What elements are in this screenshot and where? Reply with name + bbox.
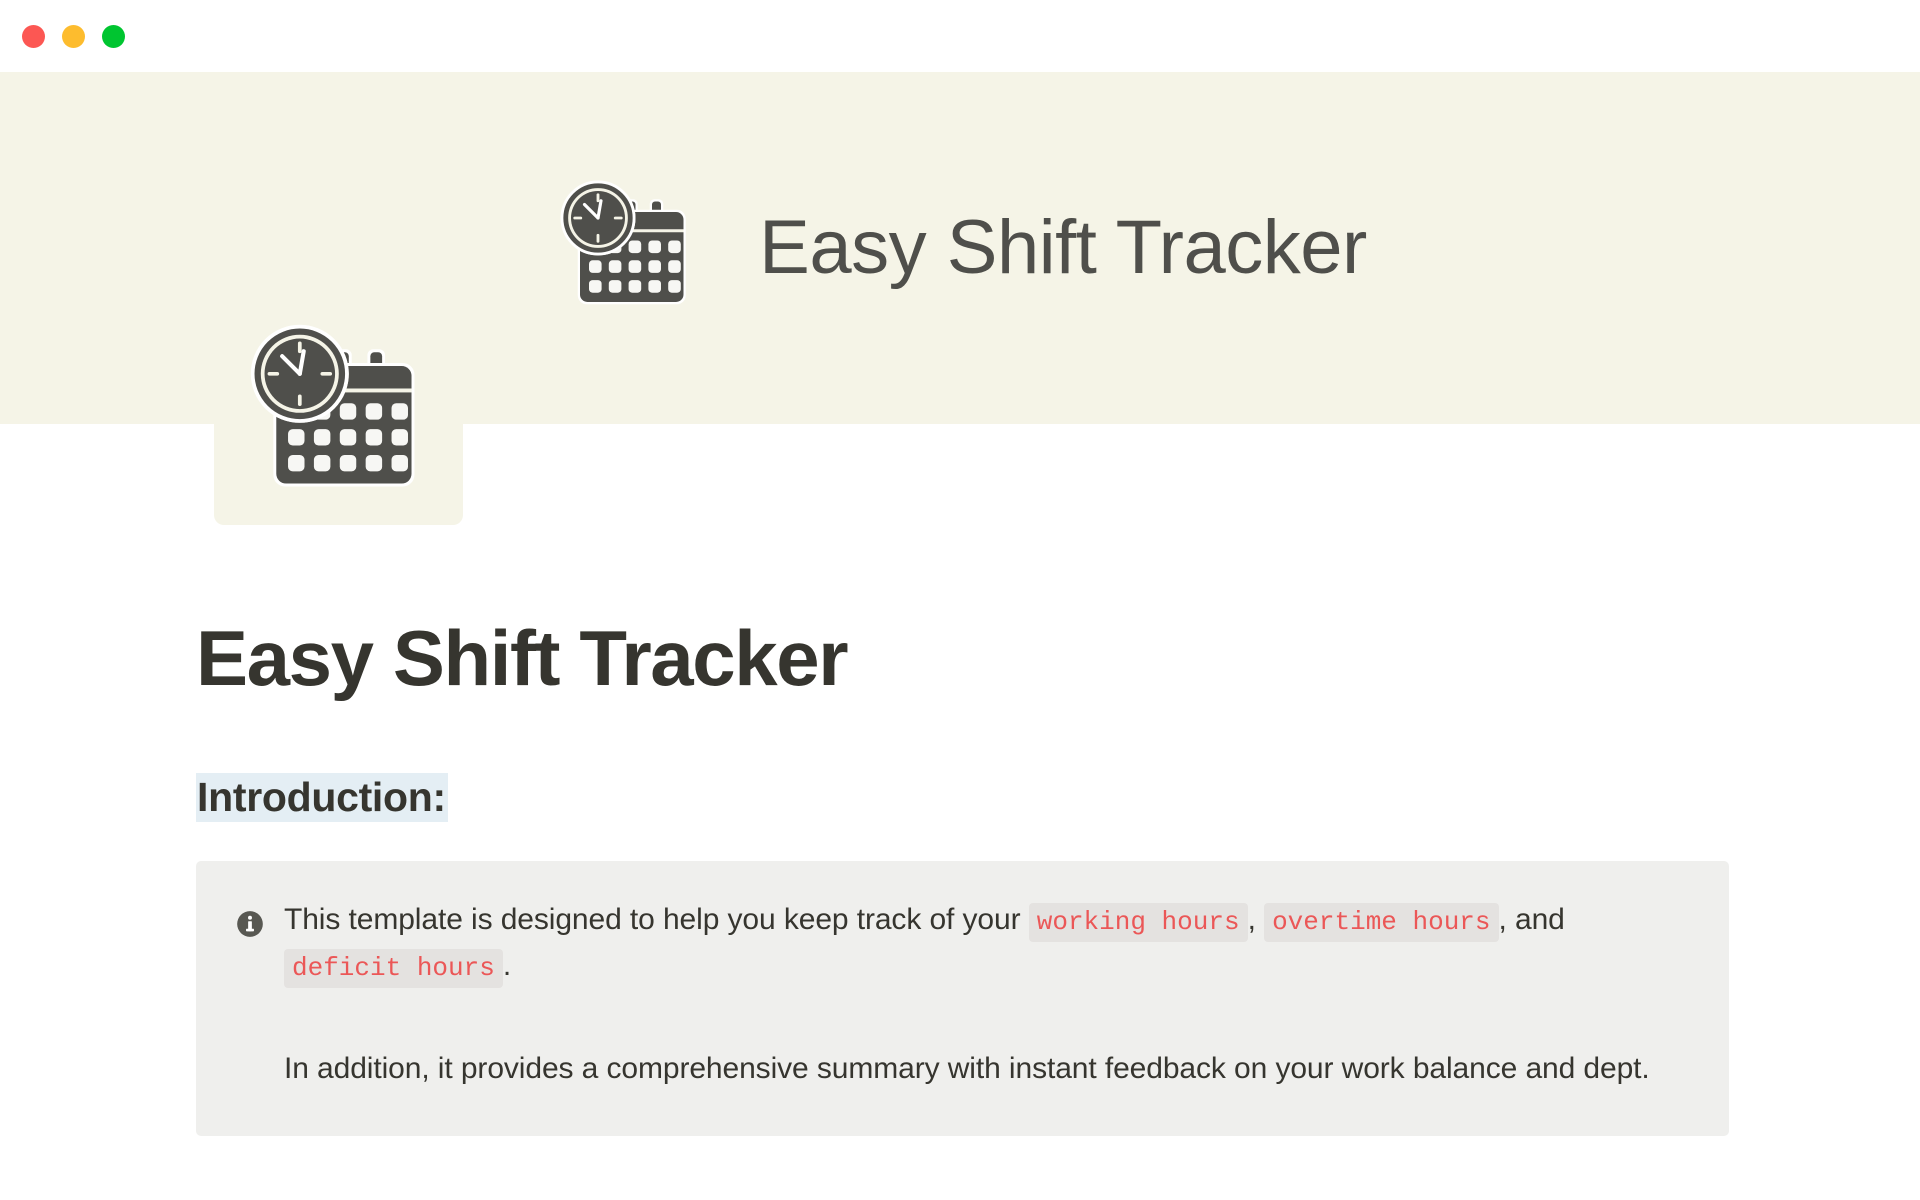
code-deficit-hours: deficit hours: [284, 949, 503, 988]
callout-paragraph-2: In addition, it provides a comprehensive…: [284, 1046, 1689, 1093]
section-heading-introduction[interactable]: Introduction:: [196, 773, 448, 822]
calendar-clock-icon: [553, 173, 703, 323]
callout-body: This template is designed to help you ke…: [284, 897, 1689, 1093]
section-heading-row: Introduction:: [196, 768, 1724, 827]
info-callout[interactable]: This template is designed to help you ke…: [196, 861, 1729, 1137]
banner-title: Easy Shift Tracker: [759, 210, 1367, 286]
callout-separator-2: , and: [1499, 903, 1565, 936]
page-title[interactable]: Easy Shift Tracker: [196, 616, 1724, 700]
window-titlebar: [0, 0, 1920, 72]
close-window-button[interactable]: [22, 25, 45, 48]
callout-text-suffix: .: [503, 949, 511, 982]
callout-text-prefix: This template is designed to help you ke…: [284, 903, 1020, 936]
info-circle-icon: [236, 910, 264, 938]
minimize-window-button[interactable]: [62, 25, 85, 48]
callout-paragraph-1: This template is designed to help you ke…: [284, 897, 1689, 990]
code-working-hours: working hours: [1029, 903, 1248, 942]
code-overtime-hours: overtime hours: [1264, 903, 1498, 942]
window-traffic-lights: [22, 25, 125, 48]
callout-separator-1: ,: [1248, 903, 1256, 936]
page-icon-container[interactable]: [214, 305, 463, 525]
page-content: Easy Shift Tracker Introduction: This te…: [0, 560, 1920, 1136]
maximize-window-button[interactable]: [102, 25, 125, 48]
calendar-clock-icon[interactable]: [241, 315, 437, 511]
